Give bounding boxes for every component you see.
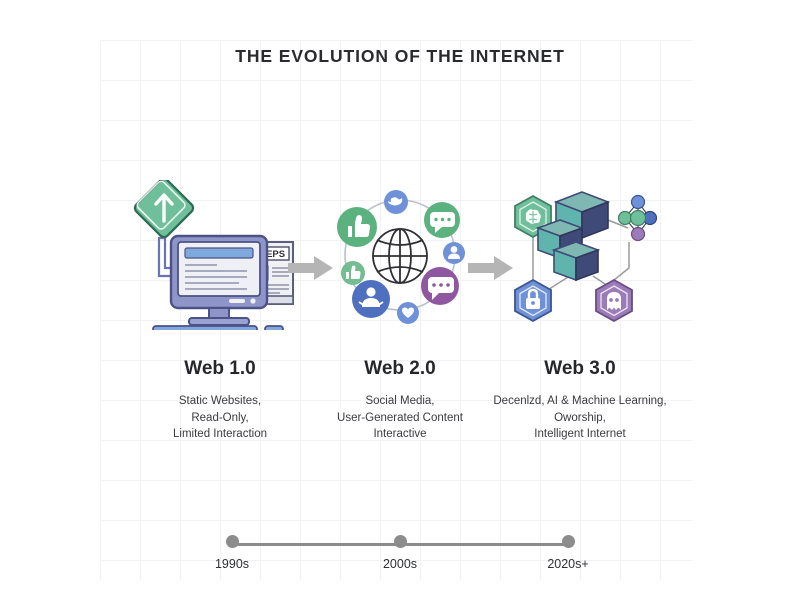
chat-bubble-green-icon xyxy=(424,202,460,238)
desktop-computer-newspaper-icon: NEEPS xyxy=(125,180,315,330)
arrow-right-icon xyxy=(468,255,514,281)
timeline: 1990s 2000s 2020s+ xyxy=(200,532,600,580)
timeline-label: 1990s xyxy=(190,557,274,571)
heart-icon xyxy=(397,302,419,324)
hexagon-lock-icon xyxy=(515,280,551,321)
arrow-right-icon xyxy=(288,255,334,281)
monitor-icon xyxy=(171,236,267,325)
user-badge-icon xyxy=(443,242,465,264)
blockchain-nodes-hexagons-icon xyxy=(498,180,663,330)
bird-icon xyxy=(384,190,408,214)
thumbs-up-icon xyxy=(337,207,377,247)
page-title: THE EVOLUTION OF THE INTERNET xyxy=(0,46,800,67)
timeline-dot xyxy=(226,535,239,548)
timeline-point-2000s[interactable]: 2000s xyxy=(358,532,442,571)
timeline-point-2020s[interactable]: 2020s+ xyxy=(526,532,610,571)
era-title-web-3: Web 3.0 xyxy=(470,358,690,380)
chat-bubble-purple-icon xyxy=(421,267,459,305)
era-description-web-3: Decenlzd, AI & Machine Learning, Oworshi… xyxy=(470,393,690,443)
user-group-icon xyxy=(352,280,390,318)
upload-badge-icon xyxy=(133,180,195,239)
social-network-globe-icon xyxy=(325,180,475,330)
timeline-label: 2020s+ xyxy=(526,557,610,571)
thumbs-up-small-icon xyxy=(341,261,365,285)
timeline-point-1990s[interactable]: 1990s xyxy=(190,532,274,571)
arrow-web1-to-web2 xyxy=(288,255,334,281)
node-cluster-icon xyxy=(618,196,656,241)
globe-icon xyxy=(373,229,427,283)
keyboard-icon xyxy=(153,326,257,330)
infographic-canvas: THE EVOLUTION OF THE INTERNET NEE xyxy=(0,0,800,600)
hexagon-ghost-icon xyxy=(596,280,632,321)
arrow-web2-to-web3 xyxy=(468,255,514,281)
timeline-label: 2000s xyxy=(358,557,442,571)
mouse-icon xyxy=(265,326,283,330)
timeline-dot xyxy=(562,535,575,548)
era-column-web-3: Web 3.0 Decenlzd, AI & Machine Learning,… xyxy=(470,180,690,443)
timeline-dot xyxy=(394,535,407,548)
cube-lower-icon xyxy=(554,242,598,280)
